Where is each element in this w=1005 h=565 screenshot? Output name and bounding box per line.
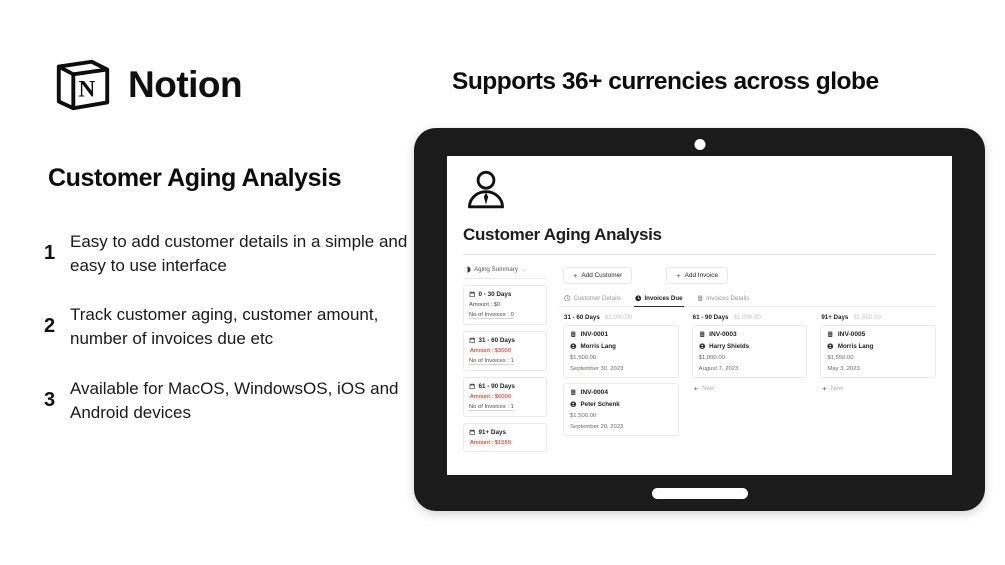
invoice-date: September 30, 2023 [570, 366, 672, 372]
invoice-amount: $1,000.00 [699, 355, 801, 361]
calendar-icon [469, 383, 476, 390]
person-icon [570, 401, 577, 408]
calendar-icon [469, 337, 476, 344]
aging-bucket-label: 0 - 30 Days [479, 291, 512, 298]
person-with-tie-icon [463, 168, 509, 214]
invoice-id-row: INV-0001 [570, 331, 672, 338]
board-column-header: 31 - 60 Days $3,000.00 [563, 314, 679, 321]
list-item: 2 Track customer aging, customer amount,… [44, 303, 409, 351]
board-column-sum: $1,000.00 [733, 314, 761, 321]
invoice-amount: $1,550.00 [827, 355, 929, 361]
invoice-id-row: INV-0005 [827, 331, 929, 338]
invoice-customer: Harry Shields [709, 343, 749, 350]
svg-text:N: N [78, 77, 95, 103]
invoice-customer-row: Harry Shields [699, 343, 801, 350]
invoice-id: INV-0001 [581, 331, 609, 338]
board-column: 31 - 60 Days $3,000.00 [563, 314, 679, 441]
plus-icon: + [573, 272, 577, 280]
slide-root: N Notion Customer Aging Analysis 1 Easy … [0, 0, 1005, 565]
invoice-customer: Morris Lang [838, 343, 873, 350]
person-icon [827, 343, 834, 350]
board-column-sum: $3,000.00 [605, 314, 633, 321]
database-icon [697, 295, 704, 302]
invoice-customer: Peter Schenk [581, 401, 620, 408]
plus-icon: + [676, 272, 680, 280]
aging-bucket-invoices: No of Invoices : 1 [469, 404, 541, 412]
list-item-text: Easy to add customer details in a simple… [70, 230, 409, 278]
list-item: 3 Available for MacOS, WindowsOS, iOS an… [44, 377, 409, 425]
database-icon [570, 331, 577, 338]
aging-bucket-card[interactable]: 61 - 90 Days Amount : $6000 No of Invoic… [463, 377, 547, 417]
board-column: 91+ Days $1,550.00 [820, 314, 936, 441]
tab-invoices-due-label: Invoices Due [644, 295, 682, 302]
clock-icon [564, 295, 571, 302]
add-invoice-button[interactable]: + Add Invoice [666, 267, 728, 284]
invoice-customer-row: Morris Lang [570, 343, 672, 350]
add-new-card-label: New [702, 385, 714, 392]
action-button-row: + Add Customer + Add Invoice [559, 267, 936, 284]
invoice-id: INV-0004 [581, 389, 609, 396]
list-item-number: 2 [44, 303, 70, 338]
aging-bucket-card[interactable]: 0 - 30 Days Amount : $0 No of Invoices :… [463, 285, 547, 325]
add-new-card-button[interactable]: + New [820, 383, 936, 393]
aging-bucket-amount: Amount : $3000 [469, 348, 541, 354]
tab-invoices-details[interactable]: Invoices Details [696, 293, 751, 307]
invoice-date: May 3, 2023 [827, 366, 929, 372]
brand-name: Notion [128, 64, 242, 106]
database-icon [570, 389, 577, 396]
list-item-text: Available for MacOS, WindowsOS, iOS and … [70, 377, 409, 425]
invoice-card[interactable]: INV-0001 [563, 325, 679, 378]
board-column-sum: $1,550.00 [853, 314, 881, 321]
calendar-icon [469, 429, 476, 436]
invoice-card[interactable]: INV-0003 [692, 325, 808, 378]
headline: Supports 36+ currencies across globe [452, 68, 972, 96]
person-icon [699, 343, 706, 350]
list-item: 1 Easy to add customer details in a simp… [44, 230, 409, 278]
aging-bucket-label: 61 - 90 Days [479, 383, 515, 390]
add-customer-button[interactable]: + Add Customer [563, 267, 632, 284]
invoice-date: September 20, 2023 [570, 424, 672, 430]
invoice-customer-row: Peter Schenk [570, 401, 672, 408]
page-title: Customer Aging Analysis [48, 164, 341, 193]
tablet-screen: Customer Aging Analysis Aging [447, 156, 952, 475]
feature-list: 1 Easy to add customer details in a simp… [44, 230, 409, 450]
invoice-amount: $1,500.00 [570, 355, 672, 361]
add-invoice-label: Add Invoice [685, 272, 718, 279]
moon-icon [464, 266, 471, 273]
notion-logo-icon: N [52, 54, 114, 116]
aging-summary-sidebar: Aging Summary ⌄ [463, 266, 547, 458]
add-new-card-button[interactable]: + New [692, 383, 808, 393]
invoice-id: INV-0005 [838, 331, 866, 338]
divider [463, 254, 936, 255]
tablet-device-frame: Customer Aging Analysis Aging [414, 128, 985, 511]
invoice-id-row: INV-0003 [699, 331, 801, 338]
notion-page: Customer Aging Analysis Aging [447, 156, 952, 475]
chevron-down-icon[interactable]: ⌄ [521, 266, 526, 273]
aging-bucket-title-row: 31 - 60 Days [469, 337, 541, 344]
divider [463, 278, 547, 279]
aging-bucket-card[interactable]: 31 - 60 Days Amount : $3000 No of Invoic… [463, 331, 547, 371]
tab-invoices-details-label: Invoices Details [706, 295, 749, 302]
aging-bucket-title-row: 91+ Days [469, 429, 541, 436]
database-icon [827, 331, 834, 338]
home-bar-icon [652, 488, 748, 499]
plus-icon: + [822, 385, 826, 393]
list-item-number: 3 [44, 377, 70, 412]
invoice-card[interactable]: INV-0004 [563, 383, 679, 436]
aging-bucket-amount: Amount : $6000 [469, 394, 541, 400]
camera-dot-icon [694, 139, 705, 150]
invoice-amount: $1,500.00 [570, 413, 672, 419]
kanban-board: 31 - 60 Days $3,000.00 [559, 314, 936, 441]
add-customer-label: Add Customer [581, 272, 622, 279]
main-content: + Add Customer + Add Invoice [559, 266, 936, 458]
brand-lockup: N Notion [52, 54, 242, 116]
aging-bucket-amount: Amount : $1550 [469, 440, 541, 446]
add-new-card-label: New [831, 385, 843, 392]
board-column-name: 61 - 90 Days [693, 314, 729, 321]
list-item-number: 1 [44, 230, 70, 265]
invoice-customer-row: Morris Lang [827, 343, 929, 350]
aging-bucket-amount: Amount : $0 [469, 302, 541, 308]
tab-customer-details[interactable]: Customer Details [563, 293, 622, 307]
board-column-name: 91+ Days [821, 314, 848, 321]
plus-icon: + [694, 385, 698, 393]
aging-bucket-card[interactable]: 91+ Days Amount : $1550 [463, 423, 547, 452]
view-tabs: Customer Details Invoi [559, 293, 936, 307]
board-column-name: 31 - 60 Days [564, 314, 600, 321]
tab-customer-details-label: Customer Details [574, 295, 621, 302]
aging-bucket-label: 31 - 60 Days [479, 337, 515, 344]
invoice-date: August 7, 2023 [699, 366, 801, 372]
person-icon [570, 343, 577, 350]
aging-bucket-label: 91+ Days [479, 429, 506, 436]
calendar-icon [469, 291, 476, 298]
board-column: 61 - 90 Days $1,000.00 [692, 314, 808, 441]
aging-summary-label: Aging Summary [474, 266, 518, 273]
list-item-text: Track customer aging, customer amount, n… [70, 303, 409, 351]
invoice-id: INV-0003 [709, 331, 737, 338]
aging-bucket-invoices: No of Invoices : 1 [469, 358, 541, 366]
aging-summary-header[interactable]: Aging Summary ⌄ [463, 266, 547, 273]
invoice-card[interactable]: INV-0005 [820, 325, 936, 378]
aging-bucket-title-row: 61 - 90 Days [469, 383, 541, 390]
aging-bucket-title-row: 0 - 30 Days [469, 291, 541, 298]
board-column-header: 61 - 90 Days $1,000.00 [692, 314, 808, 321]
aging-bucket-invoices: No of Invoices : 0 [469, 312, 541, 320]
notion-page-title: Customer Aging Analysis [463, 225, 936, 245]
invoice-id-row: INV-0004 [570, 389, 672, 396]
tab-invoices-due[interactable]: Invoices Due [634, 293, 684, 307]
board-column-header: 91+ Days $1,550.00 [820, 314, 936, 321]
database-icon [699, 331, 706, 338]
clock-filled-icon [635, 295, 642, 302]
invoice-customer: Morris Lang [581, 343, 616, 350]
